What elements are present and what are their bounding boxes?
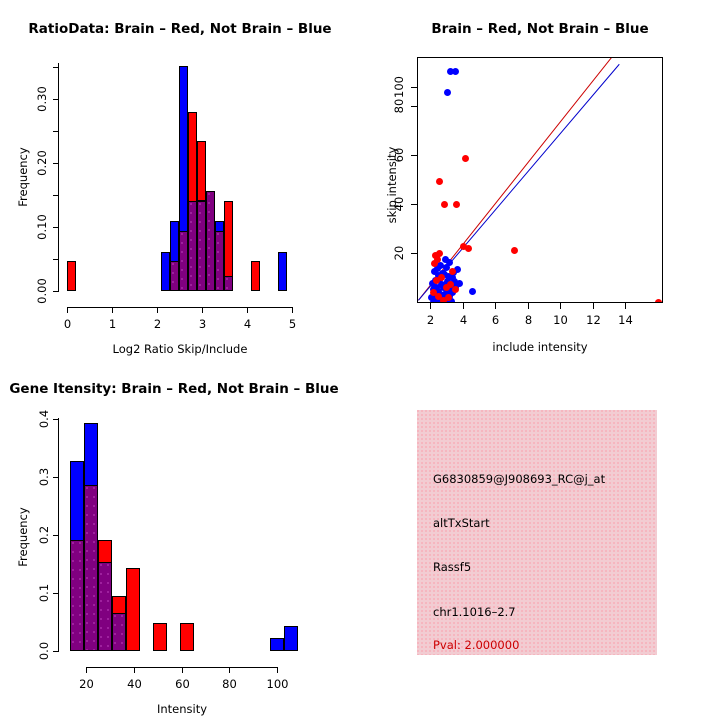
x-tick-label: 40 [119, 677, 150, 691]
x-tick [67, 307, 68, 313]
y-tick-label: 0.3 [37, 462, 51, 492]
ratio-y-axis [58, 63, 59, 291]
event-type-text: altTxStart [433, 516, 490, 530]
x-tick [430, 303, 431, 309]
x-tick-label: 4 [232, 317, 263, 331]
y-tick [53, 535, 59, 536]
y-tick-label: 0.1 [37, 578, 51, 608]
x-tick [182, 667, 183, 673]
y-tick [53, 67, 59, 68]
y-tick-label: 0.10 [35, 209, 49, 245]
scatter-panel: Brain – Red, Not Brain – Blue [360, 0, 720, 360]
ratio-y-axis-label: Frequency [16, 132, 30, 222]
gene-symbol-text: Rassf5 [433, 560, 471, 574]
bar-red [180, 623, 194, 651]
scatter-point-brain [431, 260, 438, 267]
bar-red [251, 261, 260, 291]
y-tick-label: 0.30 [35, 81, 49, 117]
x-tick-label: 0 [52, 317, 83, 331]
x-tick-label: 5 [277, 317, 308, 331]
bar-overlap [215, 231, 224, 291]
scatter-point-brain [441, 201, 448, 208]
y-tick-label: 0.00 [35, 273, 49, 309]
y-tick [53, 131, 59, 132]
y-tick [53, 195, 59, 196]
gene-y-axis-label: Frequency [16, 492, 30, 582]
x-tick-label: 12 [578, 313, 609, 327]
bar-overlap [179, 231, 188, 291]
scatter-point-brain [655, 299, 662, 303]
ratio-histogram-panel: RatioData: Brain – Red, Not Brain – Blue [0, 0, 360, 360]
pval-text: Pval: 2.000000 [433, 638, 519, 652]
y-tick-label: 0.4 [37, 404, 51, 434]
x-tick-label: 6 [480, 313, 511, 327]
scatter-point-not-brain [444, 89, 451, 96]
y-tick [411, 106, 417, 107]
gene-info-panel: G6830859@J908693_RC@j_at altTxStart Rass… [417, 410, 657, 655]
x-tick-label: 80 [214, 677, 245, 691]
scatter-point-brain [452, 286, 459, 293]
x-tick [157, 307, 158, 313]
x-tick-label: 4 [448, 313, 479, 327]
scatter-point-brain [433, 277, 440, 284]
x-tick-label: 1 [97, 317, 128, 331]
x-tick [112, 307, 113, 313]
x-tick-label: 60 [167, 677, 198, 691]
bar-overlap [84, 485, 98, 651]
x-tick-label: 3 [187, 317, 218, 331]
gene-x-axis-label: Intensity [62, 702, 302, 716]
x-tick [495, 303, 496, 309]
gene-intensity-panel: Gene Itensity: Brain – Red, Not Brain – … [0, 360, 360, 720]
scatter-point-brain [449, 268, 456, 275]
x-tick-label: 20 [71, 677, 102, 691]
y-tick [53, 163, 59, 164]
y-tick [53, 593, 59, 594]
bar-blue [278, 252, 287, 291]
scatter-title: Brain – Red, Not Brain – Blue [360, 21, 720, 37]
x-tick-label: 8 [513, 313, 544, 327]
scatter-point-not-brain [469, 288, 476, 295]
scatter-x-axis-label: include intensity [420, 340, 660, 354]
y-tick [53, 477, 59, 478]
bar-overlap [224, 276, 233, 291]
locus-text: chr1.1016–2.7 [433, 605, 516, 619]
y-tick-label: 0.0 [37, 636, 51, 666]
y-tick-label: 0.20 [35, 145, 49, 181]
y-tick-label: 100 [392, 70, 406, 104]
scatter-point-brain [443, 284, 450, 291]
x-tick [134, 667, 135, 673]
ratio-x-axis-label: Log2 Ratio Skip/Include [60, 342, 300, 356]
scatter-point-brain [511, 247, 518, 254]
bar-red [67, 261, 76, 291]
bar-overlap [112, 613, 126, 651]
y-tick-label: 20 [392, 238, 406, 268]
scatter-point-brain [462, 155, 469, 162]
x-tick [528, 303, 529, 309]
y-tick [411, 87, 417, 88]
y-tick [411, 253, 417, 254]
bar-overlap [197, 201, 206, 291]
probe-id-text: G6830859@J908693_RC@j_at [433, 472, 605, 486]
x-tick-label: 100 [262, 677, 293, 691]
ratio-x-axis [67, 307, 293, 308]
x-tick [229, 667, 230, 673]
ratio-histogram-plot-area [0, 0, 360, 360]
x-tick [202, 307, 203, 313]
scatter-point-brain [460, 243, 467, 250]
bar-blue [161, 252, 170, 291]
x-tick-label: 2 [415, 313, 446, 327]
scatter-point-brain [453, 201, 460, 208]
y-tick [53, 291, 59, 292]
y-tick [53, 227, 59, 228]
y-tick [53, 651, 59, 652]
bar-overlap [98, 562, 112, 651]
y-tick [53, 99, 59, 100]
y-tick [53, 419, 59, 420]
x-tick [247, 307, 248, 313]
scatter-y-axis-label: skip intensity [385, 140, 399, 230]
x-tick-label: 10 [545, 313, 576, 327]
gene-histogram-plot-area [0, 360, 360, 720]
scatter-plot-frame [417, 57, 663, 303]
y-tick [411, 155, 417, 156]
bar-blue [284, 626, 298, 651]
bar-red [197, 141, 206, 201]
y-tick [411, 204, 417, 205]
x-tick [463, 303, 464, 309]
bar-overlap [188, 201, 197, 291]
y-tick [53, 259, 59, 260]
scatter-point-brain [436, 250, 443, 257]
scatter-point-brain [436, 178, 443, 185]
bar-overlap [206, 191, 215, 291]
x-tick [292, 307, 293, 313]
x-tick [86, 667, 87, 673]
bar-red [153, 623, 167, 651]
x-tick [560, 303, 561, 309]
x-tick [593, 303, 594, 309]
bar-blue [270, 638, 284, 651]
scatter-point-not-brain [452, 68, 459, 75]
x-tick-label: 2 [142, 317, 173, 331]
x-tick [625, 303, 626, 309]
bar-overlap [170, 261, 179, 291]
bar-red [126, 568, 140, 651]
x-tick-label: 14 [610, 313, 641, 327]
y-tick-label: 0.2 [37, 520, 51, 550]
scatter-point-brain [440, 297, 447, 303]
bar-overlap [70, 540, 84, 651]
x-tick [277, 667, 278, 673]
